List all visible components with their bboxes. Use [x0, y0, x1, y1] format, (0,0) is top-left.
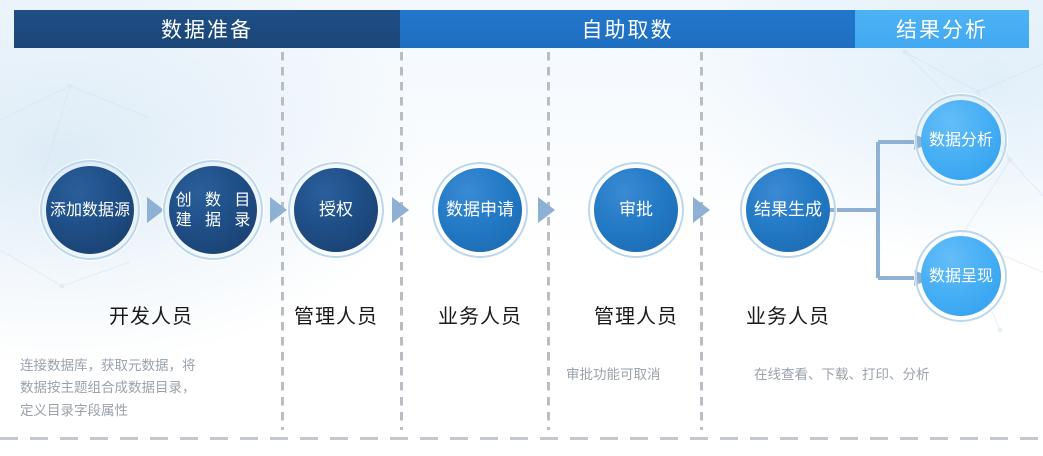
node-label-result-generate: 结果生成: [746, 168, 830, 252]
lane-divider-3: [547, 52, 550, 430]
lane-divider-2: [400, 52, 403, 430]
node-label-data-analysis: 数据分析: [921, 100, 1001, 180]
lane-divider-1: [281, 52, 284, 430]
phase-segment-data-preparation[interactable]: 数据准备: [14, 10, 400, 48]
node-label-authorize: 授权: [294, 168, 378, 252]
description-line: 定义目录字段属性: [20, 400, 270, 422]
step-arrow-1: [147, 197, 164, 223]
description-data-preparation: 连接数据库，获取元数据，将 数据按主题组合成数据目录， 定义目录字段属性: [20, 355, 270, 422]
node-data-request[interactable]: 数据申请: [432, 162, 528, 258]
description-line: 在线查看、下载、打印、分析: [754, 364, 1004, 386]
node-label-add-data-source: 添加数据源: [46, 166, 134, 254]
node-create-catalog[interactable]: 创建数据目录: [163, 160, 263, 260]
description-line: 数据按主题组合成数据目录，: [20, 377, 270, 399]
role-label-admin-2: 管理人员: [588, 300, 684, 329]
role-label-business-1: 业务人员: [432, 300, 528, 329]
step-arrow-5: [693, 197, 710, 223]
role-label-developer: 开发人员: [40, 300, 262, 329]
node-result-generate[interactable]: 结果生成: [740, 162, 836, 258]
description-approval: 审批功能可取消: [566, 364, 716, 386]
description-line: 审批功能可取消: [566, 364, 716, 386]
node-label-approval: 审批: [594, 168, 678, 252]
node-label-create-catalog: 创建数据目录: [169, 166, 257, 254]
node-label-data-present: 数据呈现: [921, 236, 1001, 316]
bottom-divider: [0, 437, 1043, 440]
step-arrow-2: [270, 197, 287, 223]
step-arrow-4: [538, 197, 555, 223]
phase-band: 数据准备 自助取数 结果分析: [14, 10, 1029, 48]
node-add-data-source[interactable]: 添加数据源: [40, 160, 140, 260]
step-arrow-3: [392, 197, 409, 223]
description-line: 连接数据库，获取元数据，将: [20, 355, 270, 377]
phase-segment-result-analysis[interactable]: 结果分析: [855, 10, 1029, 48]
role-label-business-2: 业务人员: [740, 300, 836, 329]
node-data-present[interactable]: 数据呈现: [915, 230, 1007, 322]
node-approval[interactable]: 审批: [588, 162, 684, 258]
description-result: 在线查看、下载、打印、分析: [754, 364, 1004, 386]
phase-segment-self-service-query[interactable]: 自助取数: [400, 10, 855, 48]
flowchart-canvas: 数据准备 自助取数 结果分析 添加数据源 创建数据目录 授权: [0, 0, 1043, 456]
node-label-data-request: 数据申请: [438, 168, 522, 252]
node-authorize[interactable]: 授权: [288, 162, 384, 258]
node-data-analysis[interactable]: 数据分析: [915, 94, 1007, 186]
role-label-admin-1: 管理人员: [288, 300, 384, 329]
